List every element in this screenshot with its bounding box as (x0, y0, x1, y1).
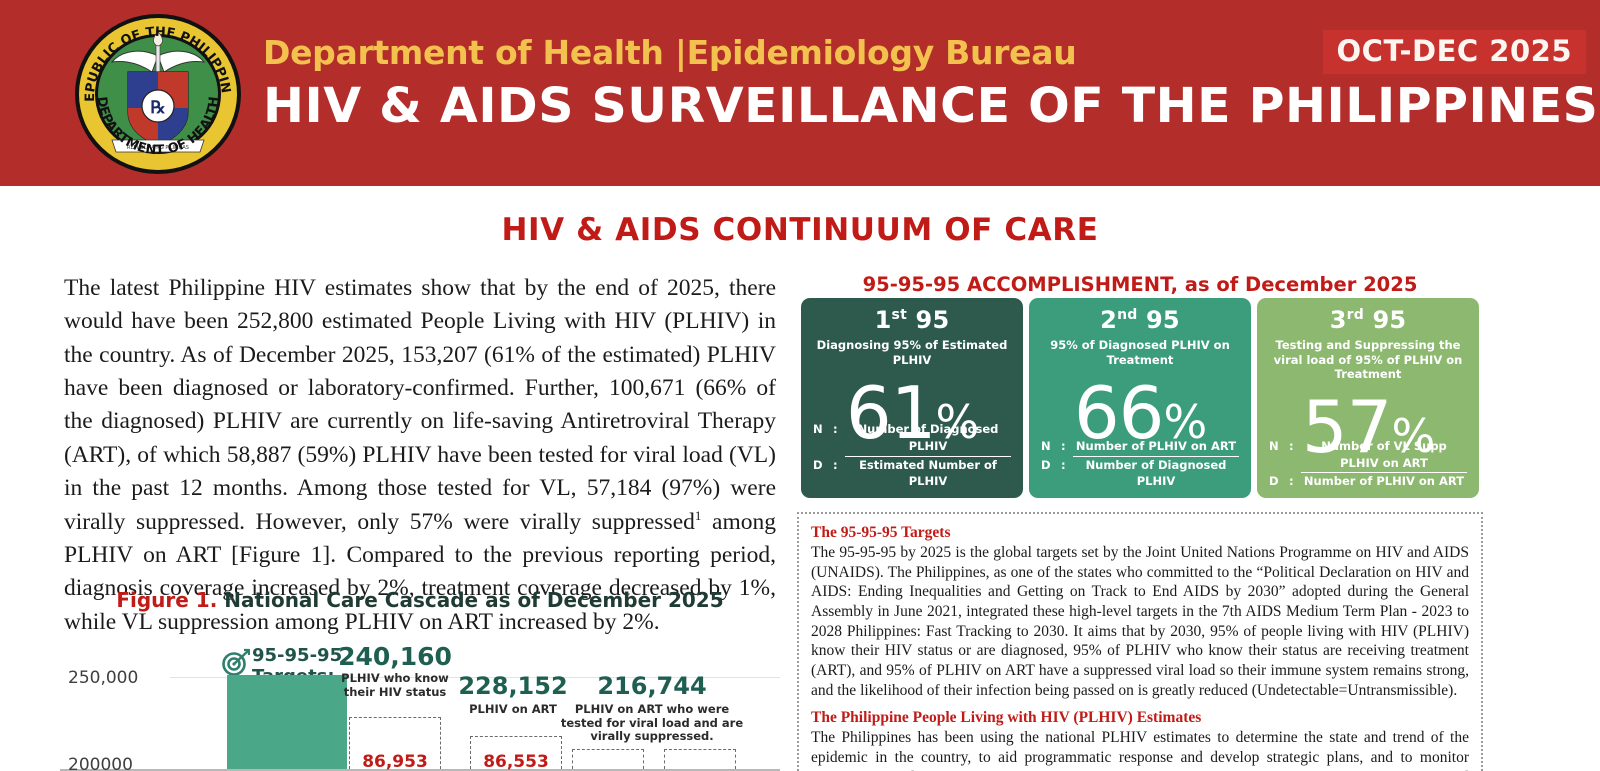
cascade-dashbox-3 (572, 749, 644, 769)
box-1-n-colon: : (833, 421, 845, 438)
page-title: HIV & AIDS CONTINUUM OF CARE (0, 212, 1600, 248)
figure-1: Figure 1. National Care Cascade as of De… (60, 582, 780, 771)
cascade-caption-3: PLHIV on ART who were tested for viral l… (557, 703, 747, 744)
header-subtitle: Department of Health |Epidemiology Burea… (263, 33, 1076, 72)
cascade-caption-1: PLHIV who know their HIV status (335, 672, 455, 699)
page-header: ℞ REPUBLIKA NG PILIPINAS REPUBLIC OF THE… (0, 0, 1600, 186)
box-2-d-key: D (1041, 457, 1061, 474)
box-1-denominator: Estimated Number of PLHIV (845, 457, 1011, 490)
box-1-formula: N : Number of Diagnosed PLHIV D : Estima… (813, 421, 1011, 490)
box-2-n-key: N (1041, 438, 1061, 455)
svg-text:℞: ℞ (150, 98, 165, 118)
accomplishment-box-3[interactable]: 3rd 95 Testing and Suppressing the viral… (1257, 298, 1479, 498)
header-bureau: Epidemiology Bureau (687, 33, 1077, 72)
box-2-rank-suffix: nd (1117, 307, 1137, 323)
cascade-actual-2: 86,553 (470, 752, 562, 771)
accomplishment-box-2[interactable]: 2nd 95 95% of Diagnosed PLHIV on Treatme… (1029, 298, 1251, 498)
doh-seal-icon: ℞ REPUBLIKA NG PILIPINAS REPUBLIC OF THE… (72, 12, 244, 176)
box-3-rank-suffix: rd (1347, 307, 1364, 323)
intro-text-part1: The latest Philippine HIV estimates show… (64, 275, 776, 535)
cascade-caption-2: PLHIV on ART (453, 703, 573, 717)
figure-1-title: Figure 1. National Care Cascade as of De… (60, 588, 780, 612)
box-1-d-colon: : (833, 457, 845, 474)
box-2-numerator-row: N : Number of PLHIV on ART (1041, 438, 1239, 457)
notes-targets-heading: The 95-95-95 Targets (811, 524, 1469, 542)
box-3-description: Testing and Suppressing the viral load o… (1267, 338, 1469, 381)
infographic-page: ℞ REPUBLIKA NG PILIPINAS REPUBLIC OF THE… (0, 0, 1600, 771)
figure-number: Figure 1. (116, 588, 217, 612)
target-icon (222, 648, 250, 676)
cascade-dashbox-4 (664, 749, 736, 769)
box-3-d-colon: : (1289, 473, 1301, 490)
box-2-d-colon: : (1061, 457, 1073, 474)
box-2-description: 95% of Diagnosed PLHIV on Treatment (1039, 338, 1241, 367)
cascade-actual-1: 86,953 (349, 752, 441, 771)
target-bar (227, 675, 347, 769)
box-3-d-key: D (1269, 473, 1289, 490)
box-2-rank-label: 95 (1146, 306, 1180, 334)
box-1-denominator-row: D : Estimated Number of PLHIV (813, 457, 1011, 490)
box-1-rank-suffix: st (892, 307, 907, 323)
cascade-value-3: 216,744 (572, 672, 732, 700)
notes-estimates-heading: The Philippine People Living with HIV (P… (811, 709, 1469, 727)
box-3-rank-label: 95 (1372, 306, 1406, 334)
box-3-denominator: Number of PLHIV on ART (1301, 473, 1467, 490)
box-2-denominator-row: D : Number of Diagnosed PLHIV (1041, 457, 1239, 490)
box-1-numerator-row: N : Number of Diagnosed PLHIV (813, 421, 1011, 456)
box-1-rank-label: 95 (916, 306, 950, 334)
box-2-rank-number: 2 (1100, 306, 1117, 334)
header-divider: | (675, 33, 687, 72)
notes-panel: The 95-95-95 Targets The 95-95-95 by 202… (797, 512, 1483, 771)
box-1-n-key: N (813, 421, 833, 438)
period-badge: OCT-DEC 2025 (1323, 30, 1586, 74)
box-3-rank: 3rd 95 (1330, 308, 1407, 333)
box-1-description: Diagnosing 95% of Estimated PLHIV (811, 338, 1013, 367)
ytick-200000: 200000 (68, 755, 133, 771)
box-3-denominator-row: D : Number of PLHIV on ART (1269, 473, 1467, 490)
notes-estimates-body: The Philippines has been using the natio… (811, 728, 1469, 771)
box-3-rank-number: 3 (1330, 306, 1347, 334)
cascade-value-2: 228,152 (443, 672, 583, 700)
box-3-numerator: Number of VL Supp PLHIV on ART (1301, 438, 1467, 473)
cascade-value-1: 240,160 (325, 642, 465, 671)
box-1-rank: 1st 95 (875, 308, 950, 333)
box-3-n-key: N (1269, 438, 1289, 455)
box-1-rank-number: 1 (875, 306, 892, 334)
box-2-numerator: Number of PLHIV on ART (1073, 438, 1239, 457)
box-3-formula: N : Number of VL Supp PLHIV on ART D : N… (1269, 438, 1467, 490)
accomplishment-box-1[interactable]: 1st 95 Diagnosing 95% of Estimated PLHIV… (801, 298, 1023, 498)
ytick-250000: 250,000 (68, 668, 138, 688)
box-2-denominator: Number of Diagnosed PLHIV (1073, 457, 1239, 490)
box-3-n-colon: : (1289, 438, 1301, 455)
box-1-d-key: D (813, 457, 833, 474)
figure-title-text: National Care Cascade as of December 202… (224, 588, 723, 612)
notes-spacer (811, 700, 1469, 709)
header-department: Department of Health (263, 33, 664, 72)
box-3-numerator-row: N : Number of VL Supp PLHIV on ART (1269, 438, 1467, 473)
box-2-formula: N : Number of PLHIV on ART D : Number of… (1041, 438, 1239, 490)
box-2-rank: 2nd 95 (1100, 308, 1180, 333)
figure-1-plot: 250,000 200000 95-95-95 Targets: 240,160… (60, 624, 780, 771)
header-title: HIV & AIDS SURVEILLANCE OF THE PHILIPPIN… (263, 78, 1598, 134)
accomplishment-title: 95-95-95 ACCOMPLISHMENT, as of December … (800, 273, 1480, 296)
notes-targets-body: The 95-95-95 by 2025 is the global targe… (811, 543, 1469, 700)
box-2-n-colon: : (1061, 438, 1073, 455)
box-1-numerator: Number of Diagnosed PLHIV (845, 421, 1011, 456)
accomplishment-boxes: 1st 95 Diagnosing 95% of Estimated PLHIV… (801, 298, 1479, 498)
